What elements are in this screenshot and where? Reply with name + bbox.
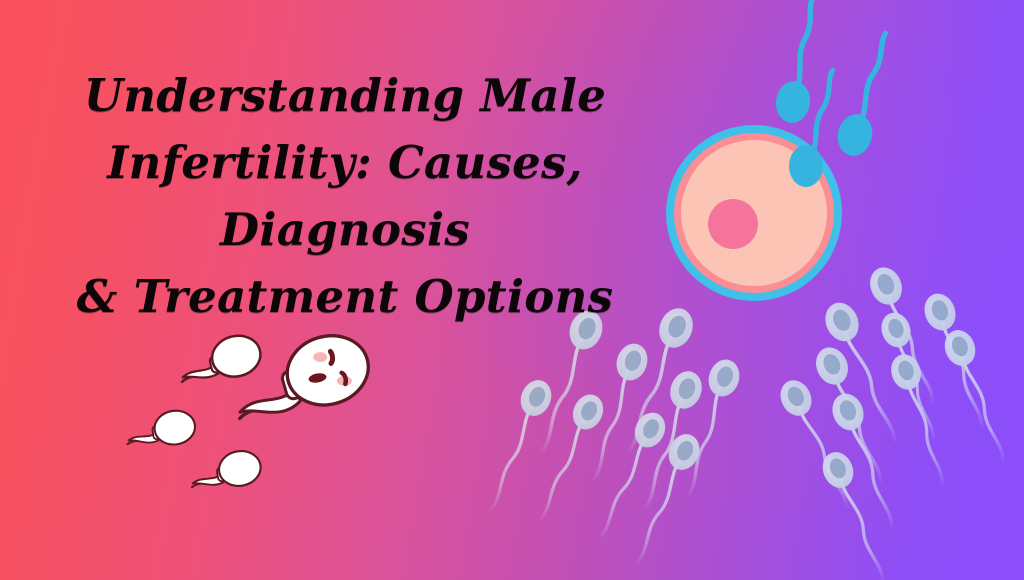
cyan-sperm-fertilizing: [789, 145, 823, 187]
pale-sperm-right-group: [775, 263, 1017, 580]
article-banner: Understanding Male Infertility: Causes, …: [0, 0, 1024, 580]
page-title: Understanding Male Infertility: Causes, …: [0, 62, 690, 330]
ovum-nucleus: [708, 199, 758, 249]
white-cartoon-sperm-group: [124, 326, 377, 494]
pale-sperm-center-group: [477, 303, 744, 568]
